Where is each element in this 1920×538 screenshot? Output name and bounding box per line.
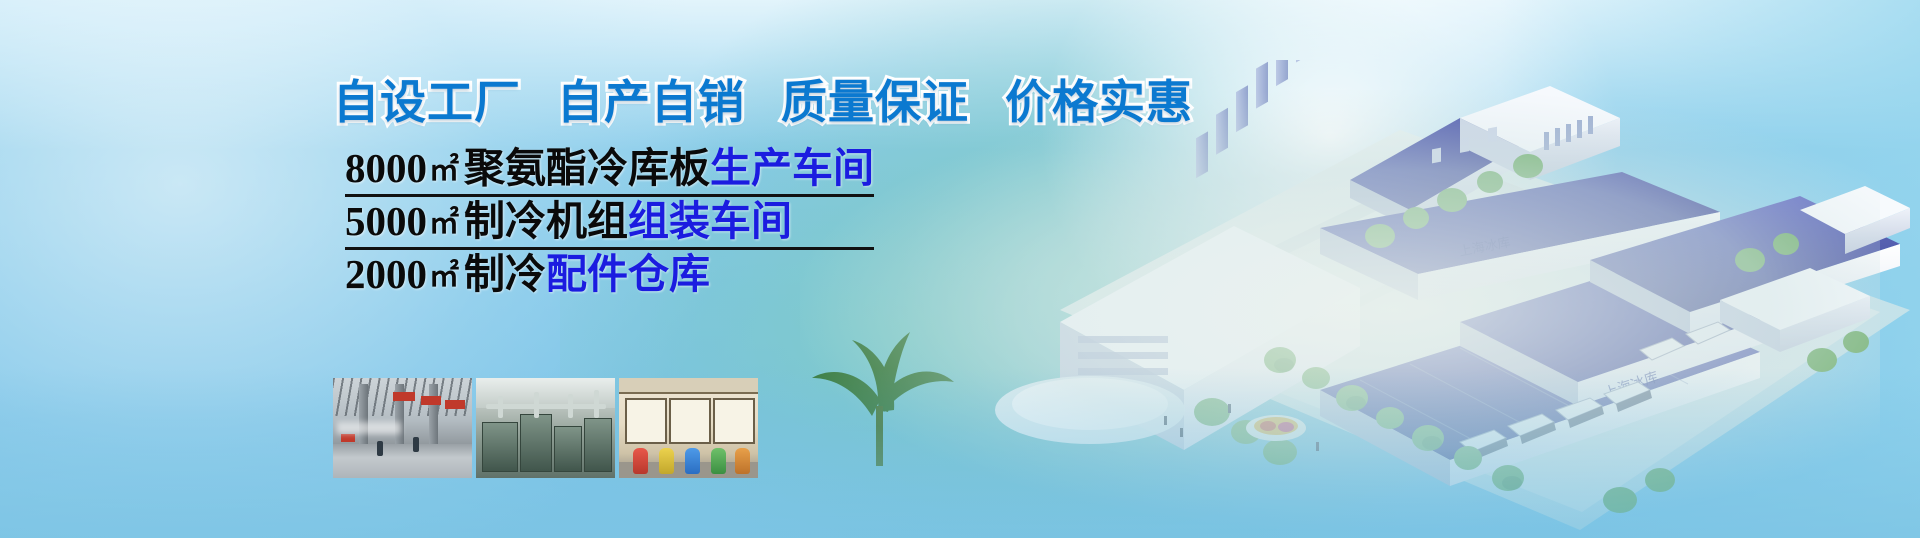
feature-line-3: 2000㎡制冷配件仓库 <box>345 254 874 300</box>
headline-item-1: 自产自销 <box>557 76 745 128</box>
feature-line-2-number: 5000 <box>345 198 427 244</box>
display-board <box>669 398 711 444</box>
feature-line-1: 8000㎡聚氨酯冷库板生产车间 <box>345 148 874 197</box>
bottom-edge-fade <box>0 368 1920 538</box>
headline-item-2: 质量保证 <box>781 76 969 128</box>
feature-line-3-number: 2000 <box>345 251 427 297</box>
vertical-pipe <box>568 394 573 418</box>
feature-lines: 8000㎡聚氨酯冷库板生产车间 5000㎡制冷机组组装车间 2000㎡制冷配件仓… <box>345 148 874 304</box>
worker-figure <box>377 441 383 456</box>
feature-line-2: 5000㎡制冷机组组装车间 <box>345 201 874 250</box>
factory-workshop-interior-photo <box>333 378 472 478</box>
feature-line-3-black: 制冷 <box>464 251 546 297</box>
feature-line-2-blue: 组装车间 <box>628 198 792 244</box>
feature-line-1-unit: ㎡ <box>427 154 464 187</box>
feature-line-2-unit: ㎡ <box>427 207 464 240</box>
photo-thumbnail-strip <box>333 378 758 478</box>
red-wall-banner <box>421 396 441 405</box>
feature-line-1-number: 8000 <box>345 145 427 191</box>
workshop-floor <box>333 444 472 478</box>
compressor-unit <box>554 426 582 472</box>
compressor-unit <box>482 422 518 472</box>
red-cylinder <box>633 448 648 474</box>
feature-line-2-black: 制冷机组 <box>464 198 628 244</box>
feature-line-3-unit: ㎡ <box>427 260 464 293</box>
banner-headline: 自设工厂自产自销质量保证价格实惠 <box>333 66 1193 132</box>
compressor-unit <box>584 418 612 472</box>
vertical-pipe <box>594 390 599 418</box>
feature-line-3-blue: 配件仓库 <box>546 251 710 297</box>
pipe-run <box>486 404 606 409</box>
feature-line-1-black: 聚氨酯冷库板 <box>464 145 710 191</box>
refrigeration-compressor-units-photo <box>476 378 615 478</box>
showroom-header-band <box>619 378 758 394</box>
display-board <box>713 398 755 444</box>
red-wall-banner <box>341 434 355 442</box>
display-board <box>625 398 667 444</box>
green-cylinder <box>711 448 726 474</box>
red-wall-banner <box>445 400 465 409</box>
light-glare <box>337 422 401 434</box>
headline-item-3: 价格实惠 <box>1005 76 1193 128</box>
vertical-pipe <box>534 392 539 418</box>
headline-item-0: 自设工厂 <box>333 76 521 128</box>
vertical-pipe <box>498 396 503 418</box>
promotional-banner: 上海冰库 <box>0 0 1920 538</box>
feature-line-1-blue: 生产车间 <box>710 145 874 191</box>
compressor-unit <box>520 414 552 472</box>
yellow-cylinder <box>659 448 674 474</box>
blue-cylinder <box>685 448 700 474</box>
worker-figure <box>413 437 419 452</box>
parts-showroom-display-photo <box>619 378 758 478</box>
orange-cylinder <box>735 448 750 474</box>
red-wall-banner <box>393 392 415 401</box>
